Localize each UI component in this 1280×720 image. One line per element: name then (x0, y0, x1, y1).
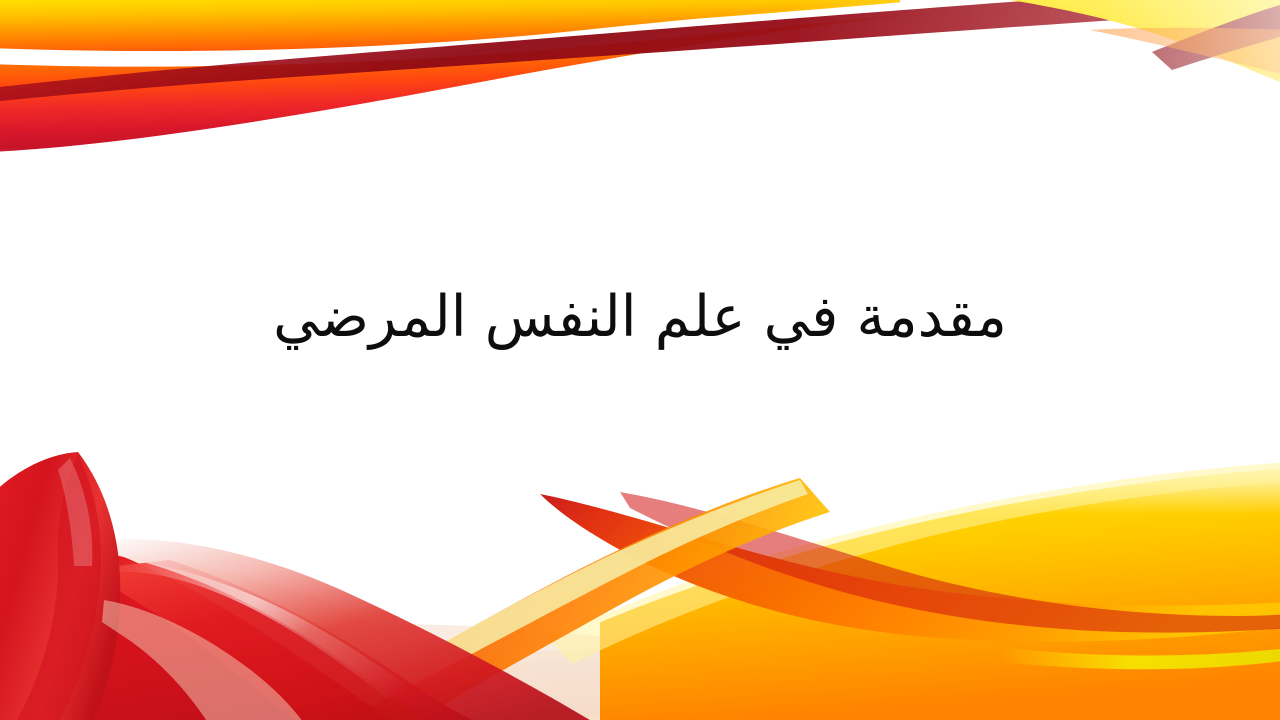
bottom-left-red-petal-inner (14, 454, 101, 720)
bottom-left-red-mass (0, 520, 400, 720)
top-left-main-ribbon (0, 0, 900, 152)
bottom-red-translucent-sheet (96, 539, 600, 720)
bottom-left-cream-fold (105, 556, 450, 700)
top-white-separator-sliver (0, 2, 918, 67)
bottom-gold-rim-highlight (550, 462, 1280, 664)
bottom-red-sheet-highlight (118, 560, 460, 720)
top-right-orange-glow (1090, 28, 1280, 76)
slide-canvas: مقدمة في علم النفس المرضي (0, 0, 1280, 720)
top-right-crimson-diagonal (1152, 2, 1280, 70)
bottom-center-orange-ridge (300, 478, 830, 720)
bottom-peach-sheet (120, 649, 1280, 720)
top-right-yellow-wedge (1010, 0, 1280, 86)
bottom-orange-band-dark-edge (620, 492, 1280, 633)
page-title[interactable]: مقدمة في علم النفس المرضي (273, 281, 1007, 354)
top-crimson-sweep-band (0, 0, 1280, 102)
bottom-right-lime-sliver (1000, 648, 1280, 669)
bottom-left-inner-cream-wedge (102, 600, 306, 720)
bottom-right-gold-wave (380, 468, 1280, 720)
bottom-cream-sheet-1 (40, 645, 1280, 720)
bottom-orange-red-band (540, 494, 1280, 642)
bottom-cream-sheet-2 (560, 639, 1280, 720)
bottom-center-pale-sliver (300, 480, 808, 720)
bottom-left-red-petal (0, 452, 120, 720)
title-placeholder[interactable]: مقدمة في علم النفس المرضي (90, 232, 1190, 402)
bottom-left-cream-wedge (60, 624, 700, 700)
bottom-left-red-fold (80, 560, 490, 720)
top-upper-thin-ribbon (0, 0, 960, 51)
bottom-left-petal-highlight (58, 458, 92, 566)
